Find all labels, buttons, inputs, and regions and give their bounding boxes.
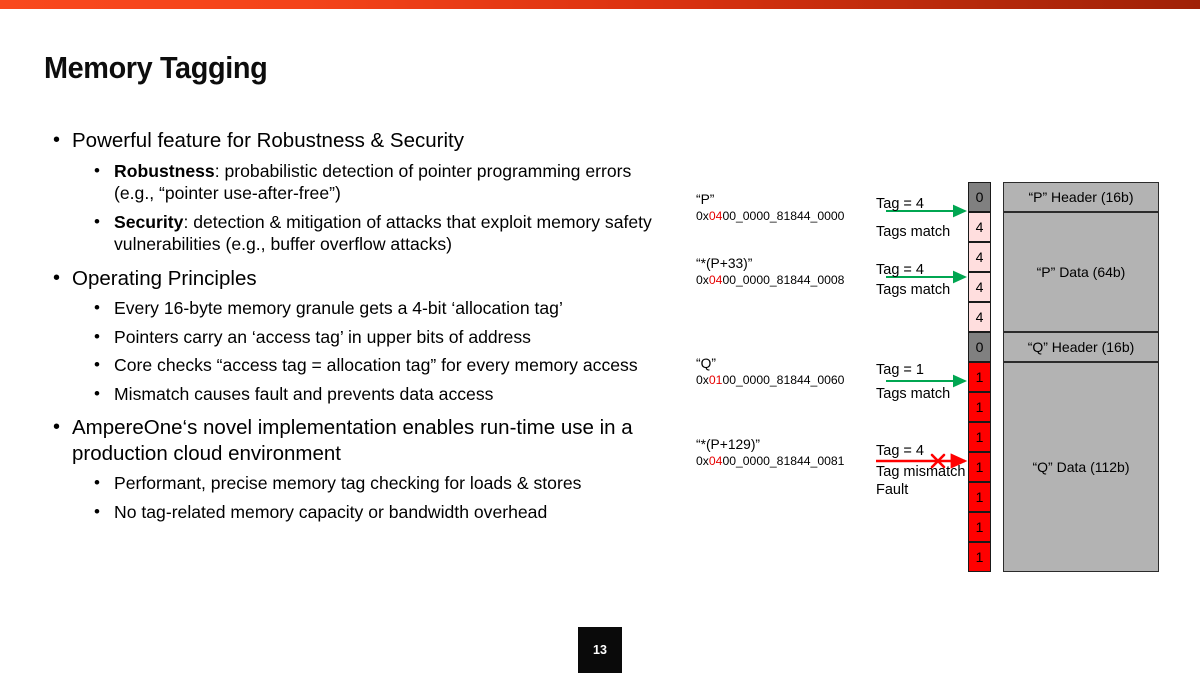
address-prefix: 0x bbox=[696, 454, 709, 468]
tag-check-result: Tags match bbox=[876, 386, 950, 403]
pointer-address: 0x0400_0000_81844_0081 bbox=[696, 453, 844, 469]
bullet-level1: •AmpereOne‘s novel implementation enable… bbox=[44, 415, 664, 466]
bullet-rest-text: No tag-related memory capacity or bandwi… bbox=[114, 502, 547, 522]
bullet-level2-label: Pointers carry an ‘access tag’ in upper … bbox=[114, 326, 531, 349]
pointer-tag-value: Tag = 1 bbox=[876, 362, 924, 379]
allocation-tag-cell: 1 bbox=[968, 362, 991, 392]
bullet-dot-icon: • bbox=[53, 266, 60, 292]
allocation-tag-cell: 1 bbox=[968, 392, 991, 422]
pointer-name: “*(P+129)” bbox=[696, 437, 844, 453]
memory-block: “Q” Data (112b) bbox=[1003, 362, 1159, 572]
bullet-level2: •Mismatch causes fault and prevents data… bbox=[44, 383, 664, 406]
bullet-level2-label: Security: detection & mitigation of atta… bbox=[114, 211, 664, 256]
memory-block: “Q” Header (16b) bbox=[1003, 332, 1159, 362]
address-remainder: 00_0000_81844_0081 bbox=[722, 454, 844, 468]
page-title: Memory Tagging bbox=[44, 50, 267, 86]
allocation-tag-cell: 1 bbox=[968, 482, 991, 512]
bullet-dot-icon: • bbox=[94, 297, 100, 320]
bullet-level2-label: Robustness: probabilistic detection of p… bbox=[114, 160, 664, 205]
bullet-lead-term: Robustness bbox=[114, 161, 215, 181]
accent-bar bbox=[0, 0, 1200, 9]
bullet-body: •Powerful feature for Robustness & Secur… bbox=[44, 118, 664, 525]
pointer-name: “Q” bbox=[696, 356, 844, 372]
bullet-rest-text: : detection & mitigation of attacks that… bbox=[114, 212, 652, 255]
tag-check-fault: Fault bbox=[876, 482, 908, 499]
bullet-dot-icon: • bbox=[94, 354, 100, 377]
bullet-level1-label: Operating Principles bbox=[72, 266, 257, 292]
pointer-label: “*(P+129)”0x0400_0000_81844_0081 bbox=[696, 437, 844, 469]
bullet-dot-icon: • bbox=[94, 383, 100, 406]
bullet-level1-label: Powerful feature for Robustness & Securi… bbox=[72, 128, 464, 154]
bullet-lead-term: Security bbox=[114, 212, 183, 232]
mismatch-cross-icon bbox=[932, 455, 944, 467]
bullet-level2: •Pointers carry an ‘access tag’ in upper… bbox=[44, 326, 664, 349]
bullet-rest-text: Performant, precise memory tag checking … bbox=[114, 473, 581, 493]
tag-check-result: Tags match bbox=[876, 282, 950, 299]
memory-block: “P” Data (64b) bbox=[1003, 212, 1159, 332]
bullet-dot-icon: • bbox=[94, 501, 100, 524]
bullet-group: •AmpereOne‘s novel implementation enable… bbox=[44, 415, 664, 523]
memory-block: “P” Header (16b) bbox=[1003, 182, 1159, 212]
bullet-dot-icon: • bbox=[53, 128, 60, 154]
bullet-level2: •No tag-related memory capacity or bandw… bbox=[44, 501, 664, 524]
pointer-tag-value: Tag = 4 bbox=[876, 443, 924, 460]
bullet-dot-icon: • bbox=[94, 160, 100, 183]
allocation-tag-cell: 1 bbox=[968, 542, 991, 572]
bullet-level1: •Operating Principles bbox=[44, 266, 664, 292]
bullet-rest-text: Core checks “access tag = allocation tag… bbox=[114, 355, 638, 375]
bullet-dot-icon: • bbox=[94, 211, 100, 234]
bullet-level1: •Powerful feature for Robustness & Secur… bbox=[44, 128, 664, 154]
bullet-rest-text: Mismatch causes fault and prevents data … bbox=[114, 384, 493, 404]
tag-check-result: Tag mismatch bbox=[876, 464, 965, 481]
bullet-level2-label: No tag-related memory capacity or bandwi… bbox=[114, 501, 547, 524]
bullet-level2: •Security: detection & mitigation of att… bbox=[44, 211, 664, 256]
address-remainder: 00_0000_81844_0008 bbox=[722, 273, 844, 287]
bullet-group: •Powerful feature for Robustness & Secur… bbox=[44, 128, 664, 256]
allocation-tag-cell: 0 bbox=[968, 182, 991, 212]
address-remainder: 00_0000_81844_0060 bbox=[722, 373, 844, 387]
allocation-tag-cell: 1 bbox=[968, 512, 991, 542]
address-prefix: 0x bbox=[696, 273, 709, 287]
pointer-name: “P” bbox=[696, 192, 844, 208]
bullet-level2: •Core checks “access tag = allocation ta… bbox=[44, 354, 664, 377]
pointer-tag-value: Tag = 4 bbox=[876, 196, 924, 213]
pointer-address: 0x0400_0000_81844_0000 bbox=[696, 208, 844, 224]
bullet-level2: •Performant, precise memory tag checking… bbox=[44, 472, 664, 495]
bullet-level2-label: Every 16-byte memory granule gets a 4-bi… bbox=[114, 297, 563, 320]
address-tag-nibble: 04 bbox=[709, 454, 723, 468]
address-tag-nibble: 04 bbox=[709, 209, 723, 223]
bullet-level2-label: Performant, precise memory tag checking … bbox=[114, 472, 581, 495]
pointer-label: “P”0x0400_0000_81844_0000 bbox=[696, 192, 844, 224]
allocation-tag-cell: 4 bbox=[968, 272, 991, 302]
address-prefix: 0x bbox=[696, 373, 709, 387]
bullet-level2: •Every 16-byte memory granule gets a 4-b… bbox=[44, 297, 664, 320]
address-prefix: 0x bbox=[696, 209, 709, 223]
bullet-dot-icon: • bbox=[94, 472, 100, 495]
bullet-level2-label: Core checks “access tag = allocation tag… bbox=[114, 354, 638, 377]
allocation-tag-cell: 1 bbox=[968, 422, 991, 452]
allocation-tag-cell: 4 bbox=[968, 212, 991, 242]
bullet-level2: •Robustness: probabilistic detection of … bbox=[44, 160, 664, 205]
allocation-tag-cell: 0 bbox=[968, 332, 991, 362]
address-tag-nibble: 04 bbox=[709, 273, 723, 287]
allocation-tag-cell: 4 bbox=[968, 302, 991, 332]
bullet-level2-label: Mismatch causes fault and prevents data … bbox=[114, 383, 493, 406]
bullet-level1-label: AmpereOne‘s novel implementation enables… bbox=[72, 415, 664, 466]
pointer-label: “*(P+33)”0x0400_0000_81844_0008 bbox=[696, 256, 844, 288]
pointer-label: “Q”0x0100_0000_81844_0060 bbox=[696, 356, 844, 388]
address-remainder: 00_0000_81844_0000 bbox=[722, 209, 844, 223]
allocation-tag-cell: 1 bbox=[968, 452, 991, 482]
page-number: 13 bbox=[578, 627, 622, 673]
address-tag-nibble: 01 bbox=[709, 373, 723, 387]
bullet-rest-text: Pointers carry an ‘access tag’ in upper … bbox=[114, 327, 531, 347]
pointer-name: “*(P+33)” bbox=[696, 256, 844, 272]
bullet-dot-icon: • bbox=[53, 415, 60, 441]
bullet-rest-text: Every 16-byte memory granule gets a 4-bi… bbox=[114, 298, 563, 318]
pointer-address: 0x0100_0000_81844_0060 bbox=[696, 372, 844, 388]
bullet-dot-icon: • bbox=[94, 326, 100, 349]
pointer-address: 0x0400_0000_81844_0008 bbox=[696, 272, 844, 288]
bullet-group: •Operating Principles•Every 16-byte memo… bbox=[44, 266, 664, 406]
allocation-tag-cell: 4 bbox=[968, 242, 991, 272]
tag-check-result: Tags match bbox=[876, 224, 950, 241]
pointer-tag-value: Tag = 4 bbox=[876, 262, 924, 279]
